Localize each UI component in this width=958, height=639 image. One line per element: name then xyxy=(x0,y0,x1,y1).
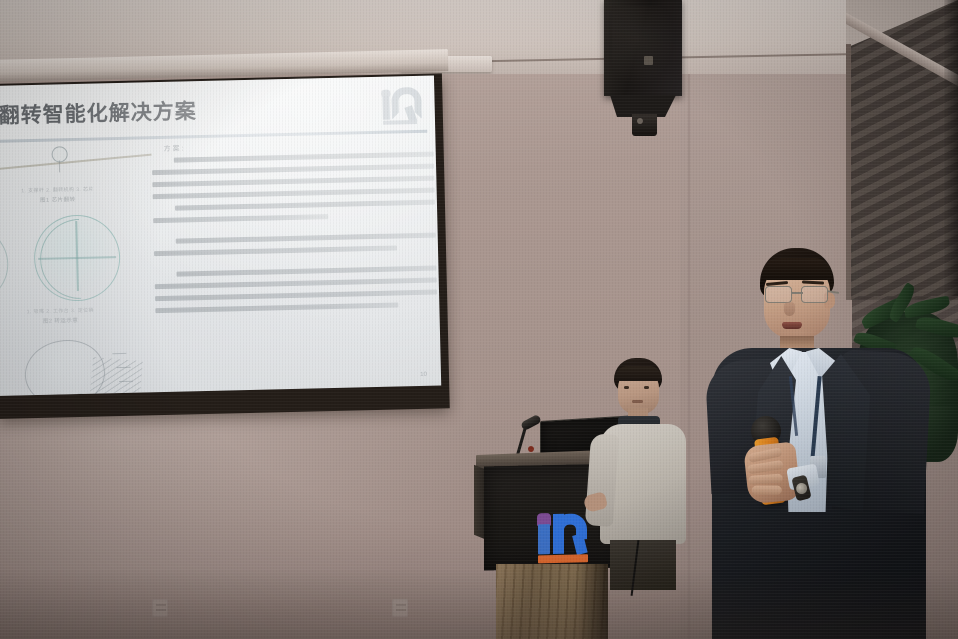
figure-1-caption: 图1 芯片翻转 xyxy=(0,193,147,205)
person1-fringe xyxy=(616,366,661,381)
logo-i-stem xyxy=(382,96,390,120)
slide-page-number: 10 xyxy=(420,372,427,378)
watch-face xyxy=(795,482,808,495)
figure-2-circle-left xyxy=(0,225,9,305)
speaker-fringe xyxy=(762,258,832,280)
figure-3-leader-4 xyxy=(115,395,129,396)
figure-1-axis xyxy=(0,154,152,173)
text-line xyxy=(175,200,435,211)
text-line xyxy=(154,245,397,256)
slide-title: 片翻转智能化解决方案 xyxy=(0,95,197,130)
figure-3 xyxy=(0,332,152,396)
finger xyxy=(748,474,783,485)
projection-screen-frame: 片翻转智能化解决方案 1. 支撑杆 2. 翻转机构 3. 芯片 图1 芯片翻转 xyxy=(0,73,450,419)
logo-underbar xyxy=(383,120,417,125)
figure-3-leader-1 xyxy=(112,353,126,354)
speaker-neck-shadow xyxy=(780,336,814,348)
floor-shadow xyxy=(0,569,958,639)
slide-body-lead: 方案: xyxy=(163,138,433,154)
text-line xyxy=(174,152,434,163)
figure-1 xyxy=(0,140,146,188)
glasses-lens-left xyxy=(765,286,792,303)
text-line xyxy=(153,188,435,200)
speaker-mount-bracket xyxy=(632,114,657,136)
person1-hand xyxy=(583,491,608,513)
slide-body-text: 方案: xyxy=(151,138,437,321)
presentation-room-photo: 片翻转智能化解决方案 1. 支撑杆 2. 翻转机构 3. 芯片 图1 芯片翻转 xyxy=(0,0,958,639)
person1-eye-left xyxy=(624,386,629,389)
logo-underbar xyxy=(538,554,588,563)
glasses-lens-right xyxy=(801,286,828,303)
text-line xyxy=(155,290,437,302)
text-line xyxy=(152,176,434,188)
text-line xyxy=(155,302,398,313)
glasses-bridge xyxy=(792,292,803,294)
figure-2 xyxy=(0,207,149,309)
text-line xyxy=(152,164,434,176)
person1-mouth xyxy=(632,400,643,403)
speaker-nose xyxy=(784,302,795,316)
figure-1-stem xyxy=(59,160,60,172)
speaker-mouth xyxy=(782,322,802,329)
ceiling-speaker xyxy=(596,0,708,134)
presenter-at-lectern xyxy=(592,358,702,586)
finger xyxy=(752,486,782,495)
eyeglasses-icon xyxy=(763,286,833,303)
blind-right-shadow xyxy=(944,0,958,300)
text-line xyxy=(153,214,328,223)
projection-screen-surface: 片翻转智能化解决方案 1. 支撑杆 2. 翻转机构 3. 芯片 图1 芯片翻转 xyxy=(0,76,441,396)
speaker-cabinet xyxy=(604,0,682,96)
ir-logo-icon xyxy=(380,84,425,125)
ir-logo-icon xyxy=(536,508,592,561)
slide-figure-column: 1. 支撑杆 2. 翻转机构 3. 芯片 图1 芯片翻转 1. 吸嘴 2. 工作… xyxy=(0,140,153,396)
figure-3-hatching xyxy=(89,357,143,396)
speaker-port-icon xyxy=(644,56,653,65)
glasses-temple xyxy=(827,290,839,293)
text-line xyxy=(155,278,437,290)
person1-eye-right xyxy=(644,386,649,389)
logo-i-stem xyxy=(538,524,550,554)
figure-2-caption: 图2 转运示意 xyxy=(0,314,150,326)
